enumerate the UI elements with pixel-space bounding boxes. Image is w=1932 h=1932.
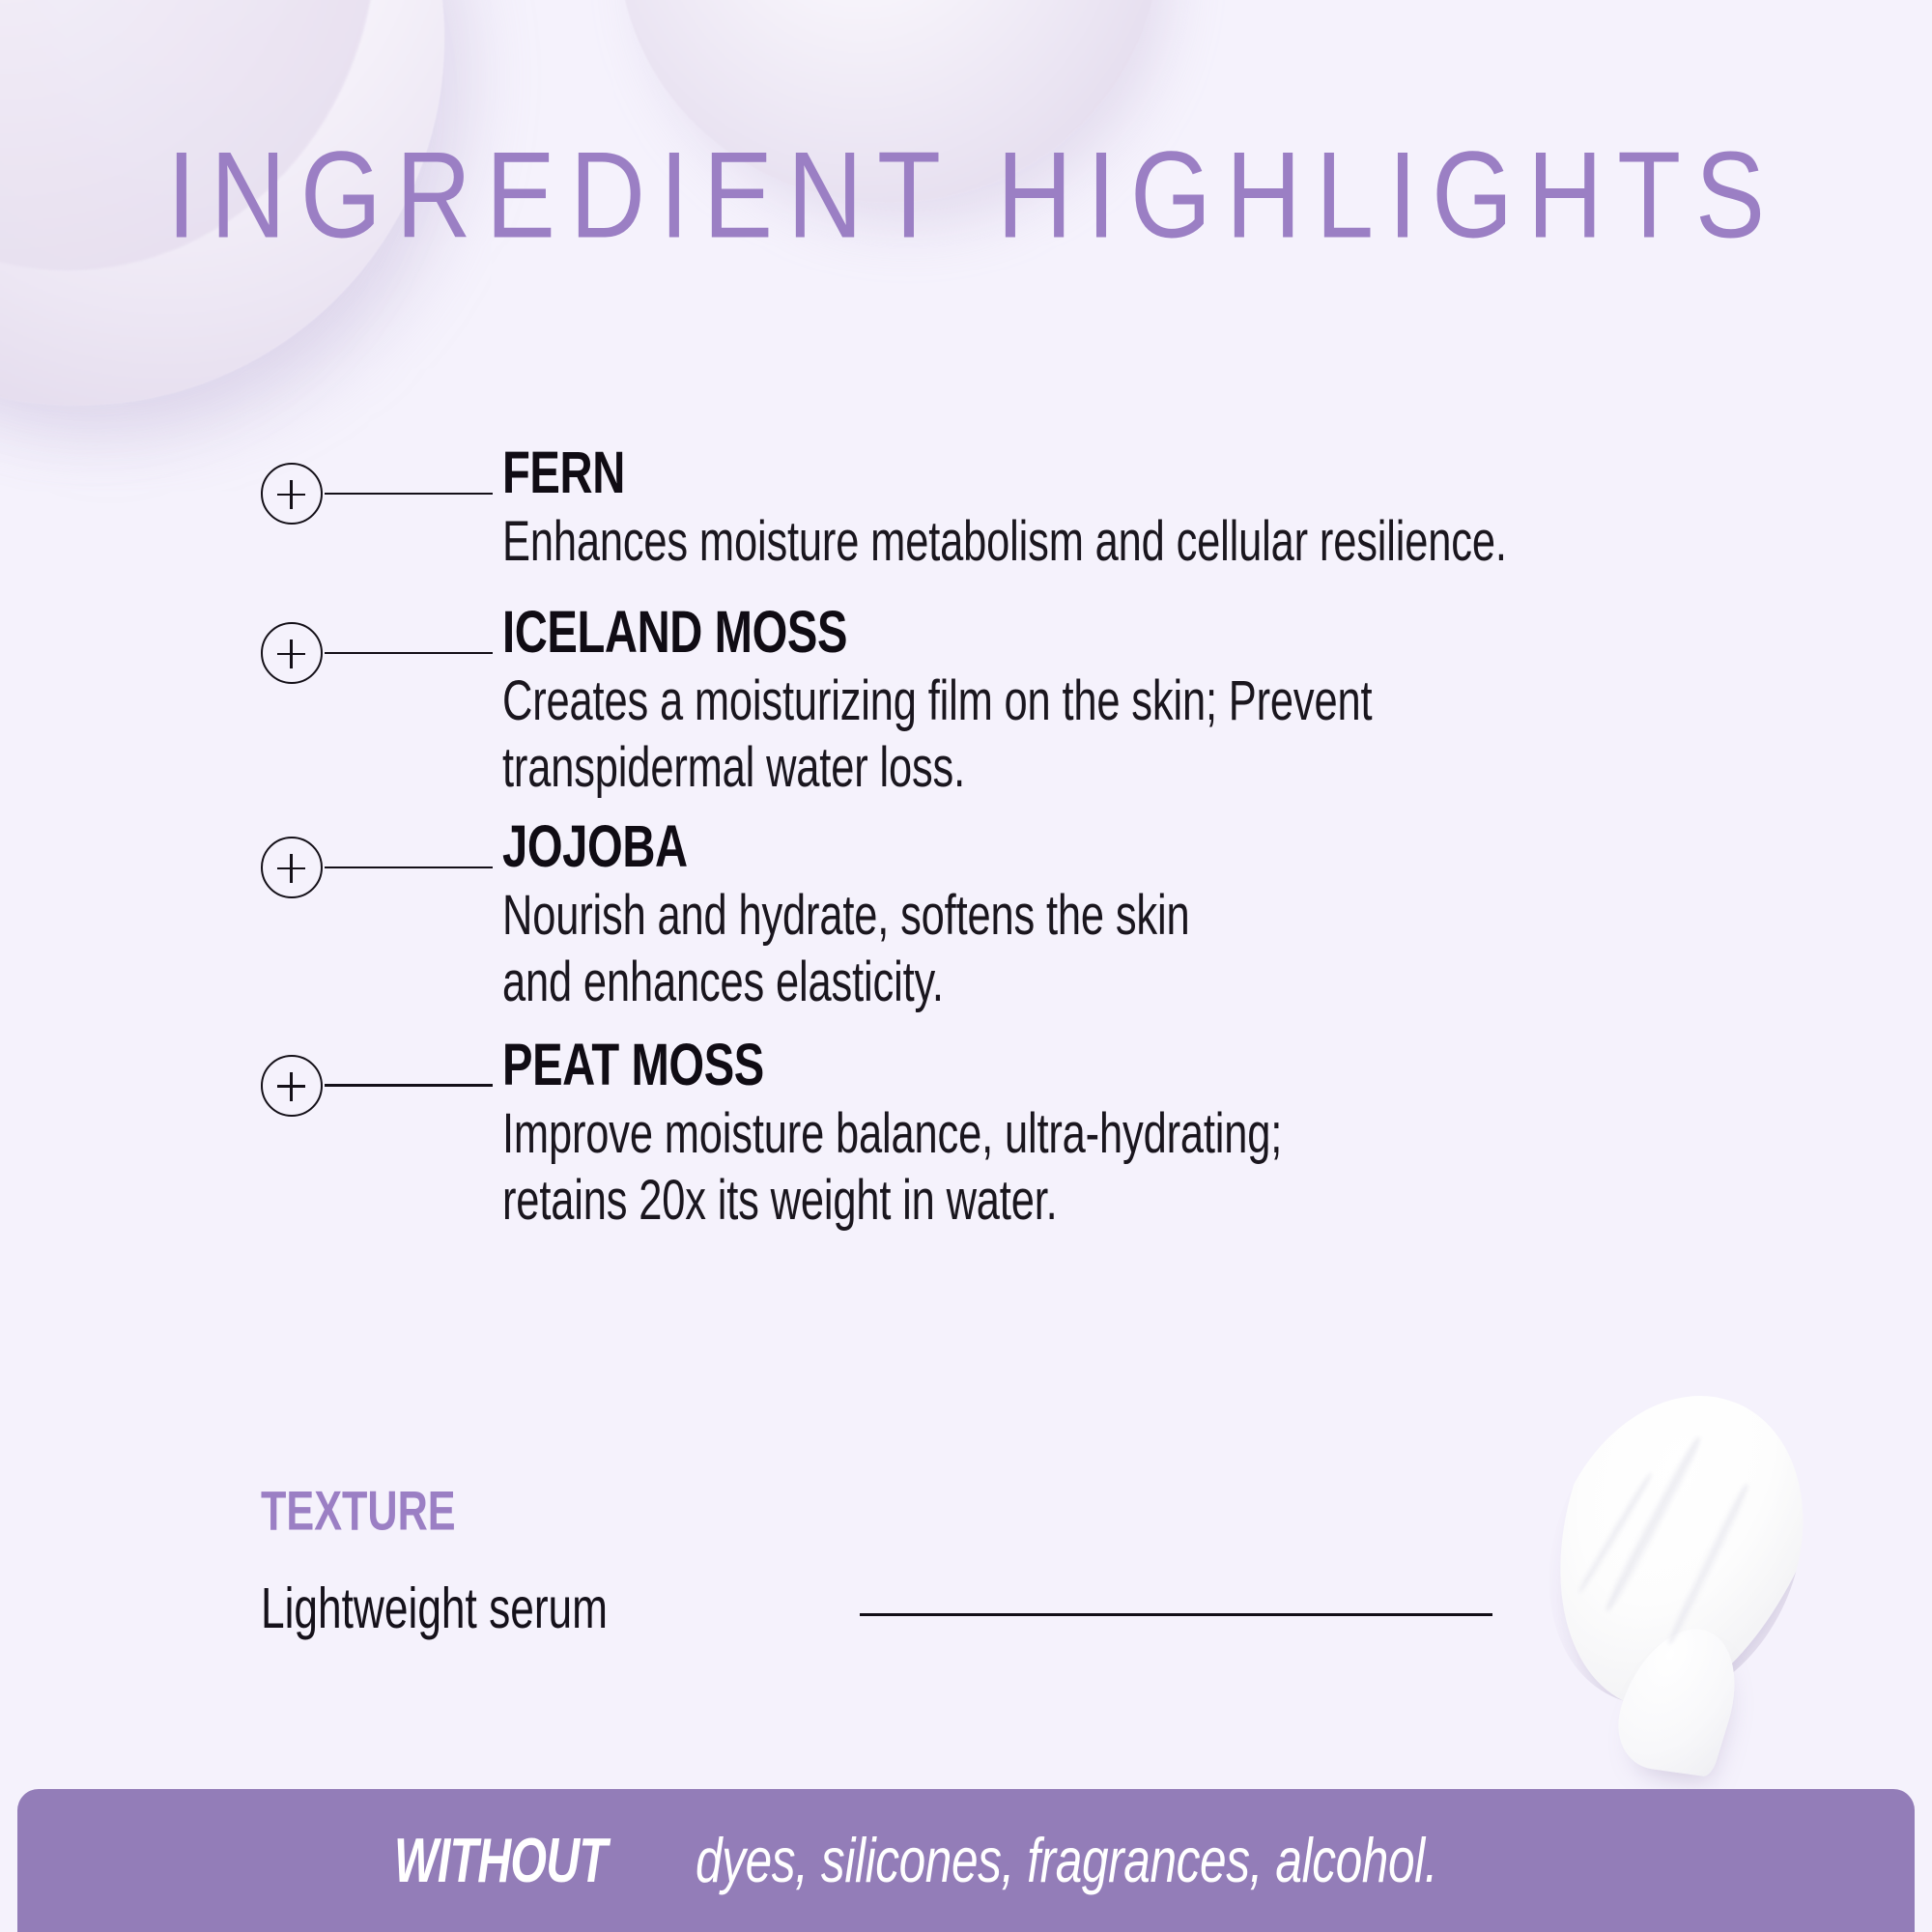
ingredient-item: PEAT MOSS Improve moisture balance, ultr… (0, 1029, 1932, 1226)
plus-icon (261, 837, 323, 898)
ingredient-description: Enhances moisture metabolism and cellula… (502, 508, 1632, 575)
texture-divider (860, 1613, 1492, 1616)
marker-column (0, 596, 502, 710)
texture-section: TEXTURE Lightweight serum (261, 1484, 1613, 1638)
ingredient-item: JOJOBA Nourish and hydrate, softens the … (0, 810, 1932, 1008)
connector-line (325, 652, 493, 655)
ingredient-text: JOJOBA Nourish and hydrate, softens the … (502, 810, 1932, 1008)
texture-label: TEXTURE (261, 1484, 1343, 1539)
ingredient-text: FERN Enhances moisture metabolism and ce… (502, 437, 1932, 571)
ingredient-name: JOJOBA (502, 816, 1646, 877)
ingredient-item: FERN Enhances moisture metabolism and ce… (0, 437, 1932, 571)
plus-icon (261, 1055, 323, 1117)
ingredient-name: FERN (502, 442, 1646, 503)
ingredient-text: ICELAND MOSS Creates a moisturizing film… (502, 596, 1932, 793)
ingredient-list: FERN Enhances moisture metabolism and ce… (0, 437, 1932, 1226)
footer-bar: WITHOUT dyes, silicones, fragrances, alc… (17, 1789, 1915, 1932)
infographic-canvas: INGREDIENT HIGHLIGHTS FERN Enhances mois… (0, 0, 1932, 1932)
ingredient-item: ICELAND MOSS Creates a moisturizing film… (0, 596, 1932, 793)
ingredient-description: Creates a moisturizing film on the skin;… (502, 668, 1632, 801)
cream-swatch (1504, 1357, 1847, 1744)
marker-column (0, 437, 502, 551)
ingredient-name: PEAT MOSS (502, 1035, 1646, 1095)
connector-line (325, 493, 493, 496)
ingredient-description: Improve moisture balance, ultra-hydratin… (502, 1100, 1632, 1234)
ingredient-text: PEAT MOSS Improve moisture balance, ultr… (502, 1029, 1932, 1226)
connector-line (325, 867, 493, 869)
plus-icon (261, 463, 323, 525)
texture-value-row: Lightweight serum (261, 1578, 1613, 1638)
page-title: INGREDIENT HIGHLIGHTS (0, 133, 1932, 256)
footer-excluded-items: dyes, silicones, fragrances, alcohol. (696, 1825, 1437, 1897)
marker-column (0, 810, 502, 924)
plus-icon (261, 622, 323, 684)
footer-without-label: WITHOUT (394, 1825, 607, 1897)
texture-value: Lightweight serum (261, 1577, 627, 1639)
ingredient-description: Nourish and hydrate, softens the skin an… (502, 882, 1632, 1015)
marker-column (0, 1029, 502, 1143)
ingredient-name: ICELAND MOSS (502, 602, 1646, 663)
connector-line (325, 1084, 493, 1087)
